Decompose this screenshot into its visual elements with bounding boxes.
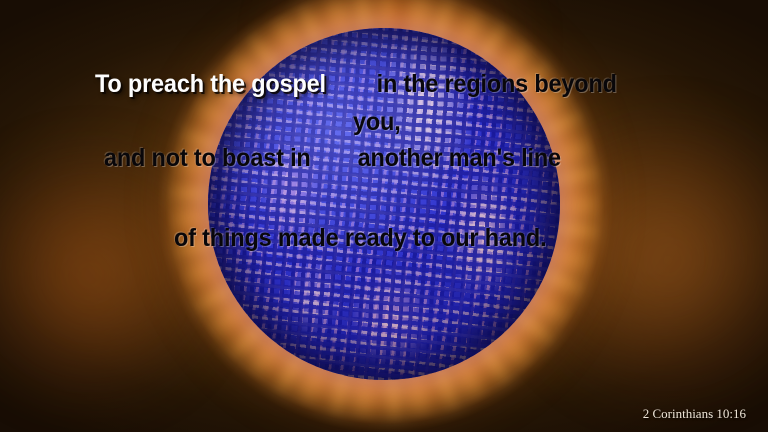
scripture-slide: To preach the gospelin the regions beyon… xyxy=(0,0,768,432)
verse-line-3: and not to boast inanother man's line xyxy=(104,144,561,173)
verse-line-2: you, xyxy=(353,108,401,137)
verse-line-4: of things made ready to our hand. xyxy=(174,224,546,253)
verse-line-3-segment-b: another man's line xyxy=(358,144,561,172)
verse-line-3-segment-a: and not to boast in xyxy=(104,144,311,172)
verse-line-1-segment-a: To preach the gospel xyxy=(95,70,326,98)
verse-line-4-segment-a: of things made ready to our hand. xyxy=(174,224,546,252)
verse-line-2-segment-a: you, xyxy=(353,108,401,136)
verse-text-block: To preach the gospelin the regions beyon… xyxy=(0,0,768,432)
verse-line-1: To preach the gospelin the regions beyon… xyxy=(95,70,617,99)
verse-line-1-segment-b: in the regions beyond xyxy=(377,70,617,98)
scripture-citation: 2 Corinthians 10:16 xyxy=(643,406,746,422)
